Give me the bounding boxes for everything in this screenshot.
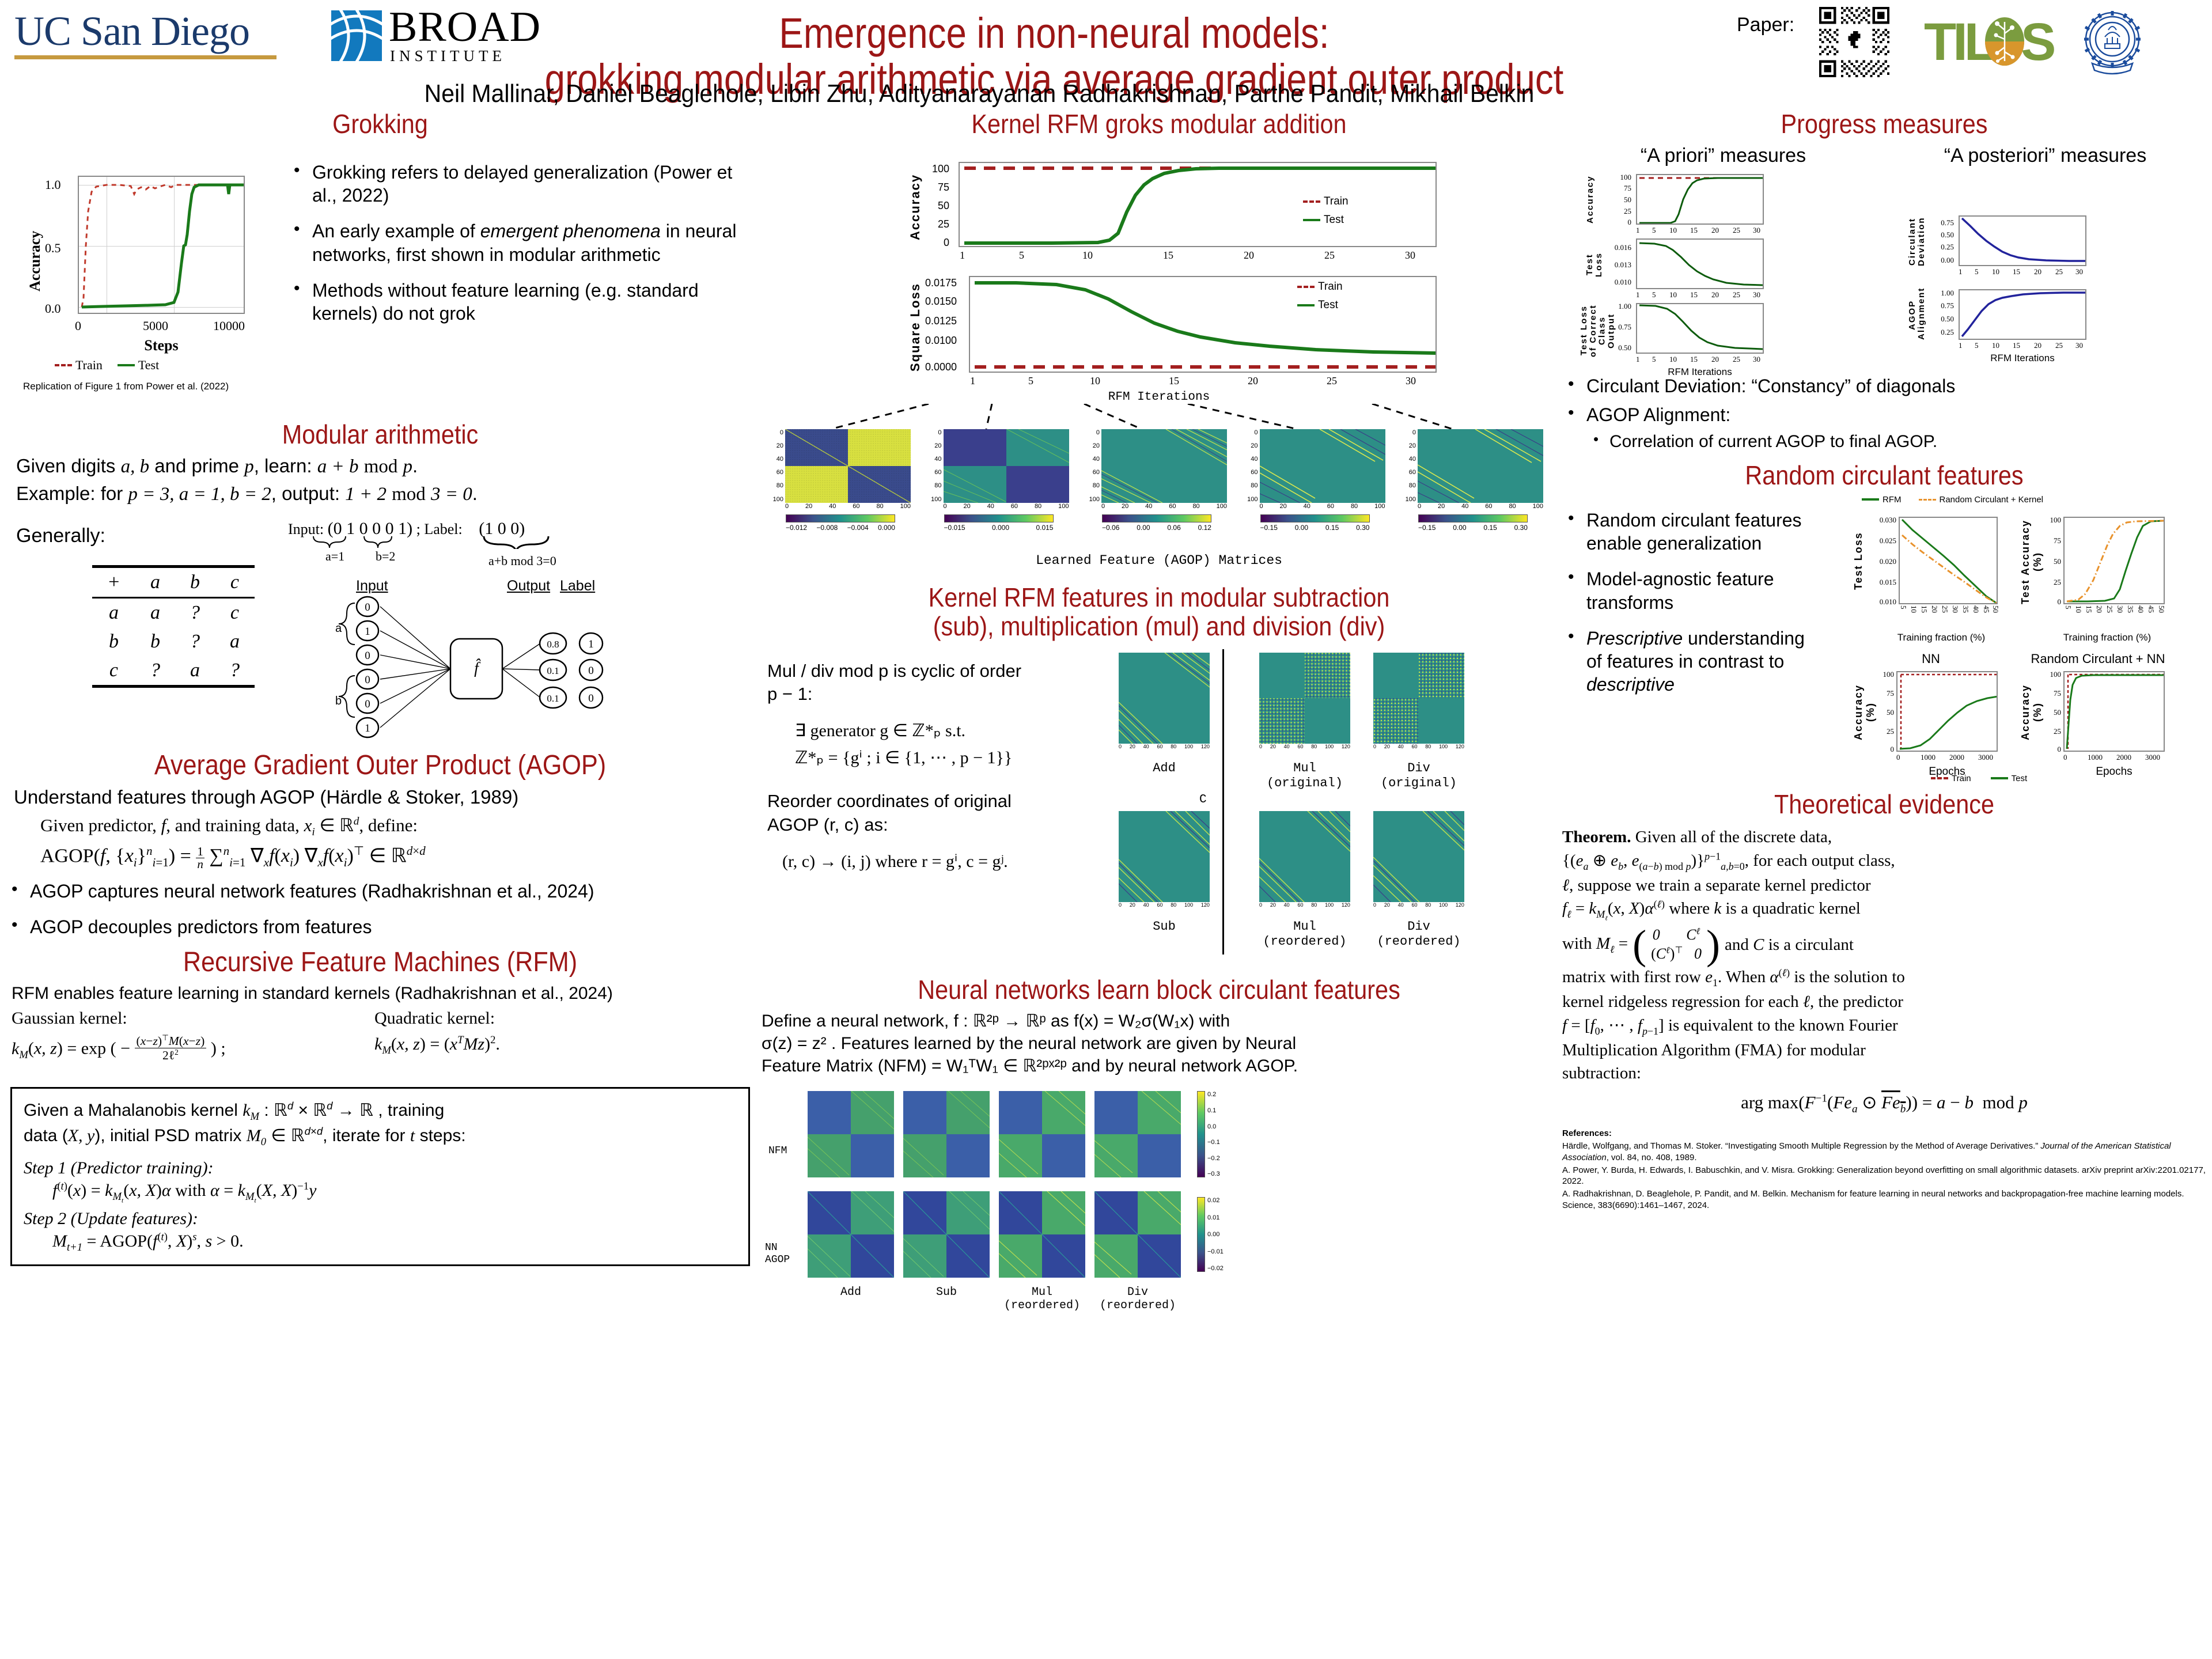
list-item: Circulant Deviation: “Constancy” of diag… bbox=[1562, 374, 2206, 397]
svg-text:0: 0 bbox=[588, 665, 594, 677]
progress-measures-plots: Accuracy 100 75 50 25 0 15 1015 bbox=[1562, 171, 2206, 366]
colorbar-labels: −0.012 −0.008 −0.004 0.000 bbox=[786, 524, 895, 532]
diagram-col-input: Input bbox=[356, 578, 388, 594]
test-line-swatch bbox=[1991, 777, 2008, 779]
author-list: Neil Mallinar, Daniel Beaglehole, Libin … bbox=[149, 81, 1810, 107]
colorbar bbox=[944, 514, 1054, 522]
learned-feature-matrices-caption: Learned Feature (AGOP) Matrices bbox=[762, 553, 1556, 568]
rc-test-loss-x-label: Training fraction (%) bbox=[1884, 632, 1999, 643]
modular-addition-table: +abc aa?c bb?a c?a? bbox=[92, 565, 255, 688]
agop-matrices-row: 020406080100 bbox=[762, 429, 1556, 536]
generator-math-2: ℤ*ₚ = {gⁱ ; i ∈ {1, ⋯ , p − 1}} bbox=[795, 748, 1113, 768]
section-rfm: Recursive Feature Machines (RFM) RFM ena… bbox=[6, 948, 755, 1266]
list-item: Model-agnostic feature transforms bbox=[1562, 567, 1810, 614]
feature-matrix-panel: 020406080100120 Div(original) bbox=[1373, 653, 1464, 791]
feature-heatmap-div-original bbox=[1373, 653, 1464, 744]
svg-text:0.1: 0.1 bbox=[547, 665, 559, 676]
agop-alignment-plot-area bbox=[1959, 289, 2086, 340]
row-label-nn-agop: NNAGOP bbox=[765, 1242, 790, 1266]
onehot-brace-label: a+b mod 3=0 bbox=[488, 554, 556, 569]
grokking-x-axis-label: Steps bbox=[78, 337, 245, 354]
feature-heatmap-sub bbox=[1119, 811, 1210, 902]
grokking-bullet-list: Grokking refers to delayed generalizatio… bbox=[288, 161, 749, 338]
modular-line-2: Example: for p = 3, a = 1, b = 2, output… bbox=[16, 482, 755, 506]
fma-formula: arg max(F−1(Fea ⊙ Feb)) = a − b mod p bbox=[1562, 1090, 2206, 1118]
random-circulant-bullet-list: Random circulant features enable general… bbox=[1562, 509, 1810, 709]
modular-line-1: Given digits a, b and prime p, learn: a … bbox=[16, 454, 755, 479]
progress-accuracy-plot-area bbox=[1636, 174, 1764, 225]
nn-agop-heatmap bbox=[1094, 1191, 1181, 1278]
rfm-loss-ytick-0: 0.0000 bbox=[925, 361, 957, 373]
rfm-line-swatch bbox=[1862, 498, 1879, 501]
feature-heatmap-add bbox=[1119, 653, 1210, 744]
svg-text:0: 0 bbox=[365, 674, 370, 686]
grokking-y-axis-label: Accuracy bbox=[26, 218, 44, 304]
theoretical-evidence-title: Theoretical evidence bbox=[1594, 790, 2174, 819]
svg-text:b: b bbox=[335, 695, 342, 707]
list-item: AGOP Alignment: Correlation of current A… bbox=[1562, 403, 2206, 453]
block-circulant-title: Neural networks learn block circulant fe… bbox=[801, 975, 1517, 1005]
list-item: Methods without feature learning (e.g. s… bbox=[288, 279, 749, 325]
a-priori-subhead: “A priori” measures bbox=[1562, 145, 1884, 167]
broad-mark-icon bbox=[331, 10, 382, 61]
theorem-text: Theorem. Given all of the discrete data,… bbox=[1562, 825, 2206, 1118]
svg-text:0: 0 bbox=[588, 692, 594, 704]
panel-label-sub: Sub bbox=[1119, 919, 1210, 934]
agop-matrix-panel: 020406080100 bbox=[1245, 429, 1389, 536]
feature-matrix-panel: 020406080100120 Mul(reordered) bbox=[1259, 811, 1350, 950]
progress-bullet-list: Circulant Deviation: “Constancy” of diag… bbox=[1562, 374, 2206, 453]
ucsd-logo: UC San Diego bbox=[14, 10, 285, 77]
reorder-text: Reorder coordinates of original AGOP (r,… bbox=[767, 790, 1113, 836]
tilos-logo: TIL S bbox=[1924, 12, 2056, 75]
agop-bullet-list: AGOP captures neural network features (R… bbox=[6, 880, 755, 939]
feature-matrix-panel: 020406080100120 Mul(original) bbox=[1259, 653, 1350, 791]
rfm-intro: RFM enables feature learning in standard… bbox=[12, 983, 755, 1004]
grokking-ytick-0: 0.0 bbox=[45, 301, 61, 316]
left-column: Grokking Accuracy 0.0 0.5 1.0 bbox=[6, 109, 755, 1266]
references-block: References: Härdle, Wolfgang, and Thomas… bbox=[1562, 1128, 2206, 1211]
colorbar-nfm-labels: 0.2 0.1 0.0 −0.1 −0.2 −0.3 bbox=[1207, 1091, 1220, 1177]
rfm-accuracy-chart: Accuracy 100 75 50 25 0 15 1015 2025 30 bbox=[906, 150, 1447, 266]
agop-title: Average Gradient Outer Product (AGOP) bbox=[43, 751, 717, 781]
features-title-line2: (sub), multiplication (mul) and division… bbox=[801, 612, 1517, 641]
feature-matrix-panel: 020406080100120 Div(reordered) bbox=[1373, 811, 1464, 950]
ucsd-logo-text: UC San Diego bbox=[14, 10, 285, 52]
random-circulant-line-swatch bbox=[1919, 499, 1936, 501]
grokking-xtick-1: 5000 bbox=[143, 319, 168, 334]
svg-text:0: 0 bbox=[365, 650, 370, 662]
rfm-acc-ytick-75: 75 bbox=[938, 181, 949, 194]
progress-test-loss-plot-area bbox=[1636, 238, 1764, 289]
random-circulant-title: Random circulant features bbox=[1594, 461, 2174, 490]
nn-accuracy-chart: Accuracy (%) 100 75 50 25 0 01000 bbox=[1850, 671, 2003, 781]
onehot-brace-b: b=2 bbox=[376, 549, 395, 564]
block-circulant-paragraph: Define a neural network, f : ℝ²ᵖ → ℝᵖ as… bbox=[762, 1010, 1556, 1077]
references-heading: References: bbox=[1562, 1128, 2206, 1139]
grokking-xtick-2: 10000 bbox=[213, 319, 245, 334]
colorbar bbox=[1418, 514, 1528, 522]
reference-item: A. Radhakrishnan, D. Beaglehole, P. Pand… bbox=[1562, 1188, 2206, 1211]
grokking-legend-test: Test bbox=[118, 358, 159, 373]
feature-heatmap-mul-reordered bbox=[1259, 811, 1350, 902]
a-posteriori-subhead: “A posteriori” measures bbox=[1884, 145, 2206, 167]
agop-heatmap bbox=[785, 429, 911, 503]
colorbar bbox=[1260, 514, 1370, 522]
rc-nn-accuracy-plot-area bbox=[2063, 671, 2165, 752]
rfm-acc-legend-train: Train bbox=[1303, 195, 1349, 208]
poster-header: UC San Diego BROAD INSTITUTE Emergen bbox=[0, 0, 2212, 109]
list-item: Random circulant features enable general… bbox=[1562, 509, 1810, 555]
colorbar-labels: −0.15 0.00 0.15 0.30 bbox=[1418, 524, 1528, 532]
svg-text:0.1: 0.1 bbox=[547, 693, 559, 704]
section-agop: Average Gradient Outer Product (AGOP) Un… bbox=[6, 751, 755, 938]
onehot-brace-a: a=1 bbox=[325, 549, 344, 564]
reference-item: Härdle, Wolfgang, and Thomas M. Stoker. … bbox=[1562, 1141, 2206, 1164]
grokking-figure-caption: Replication of Figure 1 from Power et al… bbox=[23, 381, 229, 392]
agop-matrix-panel: 020406080100 bbox=[771, 429, 915, 536]
reference-item: A. Power, Y. Burda, H. Edwards, I. Babus… bbox=[1562, 1165, 2206, 1188]
nfm-heatmap bbox=[808, 1091, 894, 1177]
rfm-acc-ytick-0: 0 bbox=[944, 237, 949, 249]
colorbar-nfm bbox=[1197, 1091, 1205, 1177]
rfm-box-line-2: data (X, y), initial PSD matrix M0 ∈ ℝd×… bbox=[24, 1124, 737, 1149]
panel-label-div-reordered: Div(reordered) bbox=[1373, 919, 1464, 950]
random-circulant-legend: RFM Random Circulant + Kernel bbox=[1862, 495, 2043, 505]
agop-heatmap bbox=[1101, 429, 1227, 503]
grokking-plot-area bbox=[78, 176, 245, 314]
rc-test-loss-plot-area bbox=[1899, 517, 1998, 604]
nfm-nnagop-grid: NFM NNAGOP bbox=[762, 1088, 1556, 1312]
right-column: Progress measures “A priori” measures “A… bbox=[1562, 109, 2206, 1211]
rc-test-loss-y-label: Test Loss bbox=[1853, 529, 1865, 593]
progress-right-x-label: RFM Iterations bbox=[1959, 353, 2086, 364]
nn-chart-title: NN bbox=[1862, 652, 2000, 666]
row-label-nfm: NFM bbox=[768, 1145, 787, 1157]
progress-measures-title: Progress measures bbox=[1594, 109, 2174, 139]
rfm-accuracy-plot-area bbox=[959, 162, 1437, 247]
nn-agop-heatmap bbox=[903, 1191, 990, 1278]
table-row: aa?c bbox=[92, 598, 255, 628]
svg-text:a: a bbox=[335, 622, 342, 635]
rfm-acc-ytick-100: 100 bbox=[932, 163, 949, 175]
agop-formula-intro: Given predictor, f, and training data, x… bbox=[40, 815, 755, 839]
panel-label-add: Add bbox=[1119, 761, 1210, 775]
nn-legend-train: Train bbox=[1931, 774, 1971, 783]
test-line-swatch bbox=[118, 364, 135, 366]
svg-text:1: 1 bbox=[588, 638, 594, 650]
rc-test-loss-chart: Test Loss 0.030 0.025 0.020 0.015 0.010 … bbox=[1850, 517, 2003, 638]
agop-matrix-panel: 020406080100 bbox=[1087, 429, 1231, 536]
agop-matrix-connectors bbox=[762, 404, 1556, 429]
progress-correct-class-chart: Test Loss of Correct Class Output 1.00 0… bbox=[1585, 303, 1775, 368]
section-grokking: Grokking Accuracy 0.0 0.5 1.0 bbox=[6, 109, 755, 414]
paper-qr-label: Paper: bbox=[1737, 14, 1794, 36]
progress-correct-class-plot-area bbox=[1636, 303, 1764, 354]
rc-test-accuracy-chart: Test Accuracy (%) 100 75 50 25 0 5 10 bbox=[2017, 517, 2170, 638]
modular-generally-label: Generally: bbox=[16, 525, 105, 547]
list-item: Grokking refers to delayed generalizatio… bbox=[288, 161, 749, 207]
table-row: c?a? bbox=[92, 656, 255, 687]
poster-root: UC San Diego BROAD INSTITUTE Emergen bbox=[0, 0, 2212, 1659]
svg-text:0: 0 bbox=[365, 698, 370, 710]
rfm-step2-title: Step 2 (Update features): bbox=[24, 1209, 737, 1229]
rc-test-accuracy-plot-area bbox=[2063, 517, 2165, 604]
title-line-1: Emergence in non-neural models: bbox=[524, 10, 1584, 56]
features-title-line1: Kernel RFM features in modular subtracti… bbox=[801, 583, 1517, 612]
col-label-mul-reordered: Mul (reordered) bbox=[999, 1286, 1085, 1312]
grokking-ytick-1: 0.5 bbox=[45, 241, 61, 256]
agop-heatmap bbox=[1418, 429, 1543, 503]
train-line-swatch bbox=[1931, 777, 1948, 779]
panel-label-mul-original: Mul(original) bbox=[1259, 761, 1350, 791]
rfm-loss-ytick-2: 0.0125 bbox=[925, 315, 957, 327]
rc-test-accuracy-x-label: Training fraction (%) bbox=[2050, 632, 2165, 643]
rfm-title: Recursive Feature Machines (RFM) bbox=[43, 948, 717, 978]
list-item: An early example of emergent phenomena i… bbox=[288, 219, 749, 266]
colorbar-nn-agop-labels: 0.02 0.01 0.00 −0.01 −0.02 bbox=[1207, 1197, 1224, 1272]
rfm-iterations-axis-label: RFM Iterations bbox=[762, 391, 1556, 404]
svg-text:S: S bbox=[2021, 13, 2054, 71]
ucsd-logo-rule bbox=[14, 55, 276, 59]
legend-random-circulant-kernel: Random Circulant + Kernel bbox=[1919, 495, 2044, 505]
list-item: Prescriptive understanding of features i… bbox=[1562, 627, 1810, 696]
agop-heatmap bbox=[1260, 429, 1385, 503]
reorder-math: (r, c) → (i, j) where r = gⁱ, c = gʲ. bbox=[782, 851, 1113, 872]
colorbar bbox=[1102, 514, 1211, 522]
feature-heatmap-div-reordered bbox=[1373, 811, 1464, 902]
modular-arithmetic-title: Modular arithmetic bbox=[43, 420, 717, 449]
grokking-ytick-2: 1.0 bbox=[45, 177, 61, 192]
rfm-accuracy-y-label: Accuracy bbox=[908, 166, 923, 247]
rfm-loss-plot-area bbox=[969, 276, 1437, 373]
rfm-loss-ytick-3: 0.0150 bbox=[925, 296, 957, 308]
rc-nn-x-label: Epochs bbox=[2063, 766, 2165, 778]
gaussian-kernel-formula: kM(x, z) = exp ( − (x−z)⊤M(x−z) 2ℓ2 ) ; bbox=[12, 1034, 226, 1062]
colorbar-labels: −0.015 0.000 0.015 bbox=[944, 524, 1054, 532]
diagram-col-label: Label bbox=[560, 578, 595, 594]
gaussian-kernel-label: Gaussian kernel: bbox=[12, 1009, 127, 1028]
circulant-deviation-plot-area bbox=[1959, 215, 2086, 266]
colorbar-labels: −0.06 0.00 0.06 0.12 bbox=[1102, 524, 1211, 532]
generator-math-1: ∃ generator g ∈ ℤ*ₚ s.t. bbox=[795, 721, 1113, 741]
section-modular-arithmetic: Modular arithmetic Given digits a, b and… bbox=[6, 420, 755, 759]
nn-legend-test: Test bbox=[1991, 774, 2028, 783]
grokking-accuracy-chart: Accuracy 0.0 0.5 1.0 bbox=[23, 151, 271, 382]
rfm-loss-ytick-1: 0.0100 bbox=[925, 335, 957, 347]
rc-nn-accuracy-chart: Accuracy (%) 100 75 50 25 0 01000 bbox=[2017, 671, 2170, 781]
onehot-encoding-diagram: Input: (0 1 0 0 0 1) ; Label: (1 0 0) a=… bbox=[276, 517, 749, 759]
rfm-loss-chart: Square Loss 0.0175 0.0150 0.0125 0.0100 … bbox=[906, 270, 1447, 388]
nfm-heatmap bbox=[999, 1091, 1085, 1177]
rfm-loss-legend-train: Train bbox=[1297, 281, 1343, 293]
progress-accuracy-y-label: Accuracy bbox=[1585, 177, 1595, 224]
circulant-deviation-chart: Circulant Deviation 0.75 0.50 0.25 0.00 … bbox=[1908, 215, 2098, 274]
agop-formula: AGOP(f, {xi}ni=1) = 1n ∑ni=1 ∇xf(xi) ∇xf… bbox=[40, 843, 755, 870]
kernel-rfm-groks-title: Kernel RFM groks modular addition bbox=[801, 109, 1517, 139]
feature-heatmap-mul-original bbox=[1259, 653, 1350, 744]
rfm-step2-formula: Mt+1 = AGOP(f(t), X)s, s > 0. bbox=[52, 1231, 737, 1254]
rfm-step1-formula: f(t)(x) = kMt(x, X)α with α = kMt(X, X)−… bbox=[52, 1180, 737, 1205]
train-line-swatch bbox=[1303, 200, 1320, 203]
svg-text:0.8: 0.8 bbox=[547, 639, 559, 650]
col-label-div-reordered: Div (reordered) bbox=[1094, 1286, 1181, 1312]
agop-matrix-panel: 020406080100 bbox=[1403, 429, 1547, 536]
nfm-heatmap bbox=[1094, 1091, 1181, 1177]
agop-matrix-panel: 020406080100 bbox=[929, 429, 1073, 536]
qr-code-icon[interactable] bbox=[1819, 7, 1889, 77]
col-label-add: Add bbox=[808, 1286, 894, 1312]
nfm-heatmap bbox=[903, 1091, 990, 1177]
train-line-swatch bbox=[1297, 286, 1315, 288]
rfm-acc-ytick-25: 25 bbox=[938, 218, 949, 230]
rfm-acc-ytick-50: 50 bbox=[938, 200, 949, 212]
legend-rfm: RFM bbox=[1862, 495, 1902, 505]
quadratic-kernel-formula: kM(x, z) = (xTMz)2. bbox=[374, 1034, 500, 1057]
progress-test-loss-chart: Test Loss 0.016 0.013 0.010 15 1015 2025… bbox=[1585, 238, 1775, 297]
kernel-rfm-features-title: Kernel RFM features in modular subtracti… bbox=[801, 583, 1517, 641]
mul-div-cyclic-text: Mul / div mod p is cyclic of order p − 1… bbox=[767, 660, 1113, 706]
rfm-loss-ytick-4: 0.0175 bbox=[925, 277, 957, 289]
table-row: +abc bbox=[92, 567, 255, 598]
iit-bombay-seal-icon bbox=[2080, 8, 2146, 76]
agop-heatmap bbox=[944, 429, 1069, 503]
nn-agop-heatmap bbox=[808, 1191, 894, 1278]
nn-agop-heatmap bbox=[999, 1191, 1085, 1278]
feature-matrix-panel: 020406080100120 Sub bbox=[1119, 811, 1210, 950]
agop-alignment-chart: AGOP Alignment 1.00 0.75 0.50 0.25 15 10… bbox=[1908, 289, 2098, 358]
grokking-title: Grokking bbox=[43, 109, 717, 139]
grokking-xtick-0: 0 bbox=[75, 319, 81, 334]
rc-nn-chart-title: Random Circulant + NN bbox=[2012, 652, 2184, 666]
quadratic-kernel-label: Quadratic kernel: bbox=[374, 1009, 495, 1028]
grokking-legend-train: Train bbox=[55, 358, 103, 373]
rfm-loss-legend-test: Test bbox=[1297, 299, 1343, 312]
rfm-algorithm-box: Given a Mahalanobis kernel kM : ℝd × ℝd … bbox=[10, 1087, 750, 1266]
svg-text:1: 1 bbox=[365, 626, 370, 638]
diagram-col-output: Output bbox=[507, 578, 550, 594]
nn-charts-legend: Train Test bbox=[1931, 774, 2027, 783]
rfm-acc-legend-test: Test bbox=[1303, 214, 1349, 226]
rfm-loss-y-label: Square Loss bbox=[908, 279, 923, 374]
middle-column: Kernel RFM groks modular addition Accura… bbox=[762, 109, 1556, 1312]
colorbar bbox=[786, 514, 895, 522]
svg-text:0: 0 bbox=[365, 601, 370, 613]
list-item: Correlation of current AGOP to final AGO… bbox=[1586, 431, 2206, 453]
svg-text:1: 1 bbox=[365, 722, 370, 734]
train-line-swatch bbox=[55, 364, 72, 366]
list-item: AGOP decouples predictors from features bbox=[6, 915, 755, 938]
svg-text:TIL: TIL bbox=[1924, 13, 1995, 71]
colorbar-nn-agop bbox=[1197, 1197, 1205, 1272]
table-row: bb?a bbox=[92, 627, 255, 656]
theorem-matrix: ( 0 Cℓ (Cℓ)⊤ 0 ) bbox=[1633, 926, 1720, 963]
nn-accuracy-plot-area bbox=[1896, 671, 1998, 752]
test-line-swatch bbox=[1297, 304, 1315, 306]
list-item: AGOP captures neural network features (R… bbox=[6, 880, 755, 903]
test-line-swatch bbox=[1303, 219, 1320, 221]
agop-intro: Understand features through AGOP (Härdle… bbox=[14, 786, 755, 809]
rfm-box-line-1: Given a Mahalanobis kernel kM : ℝd × ℝd … bbox=[24, 1099, 737, 1124]
colorbar-labels: −0.15 0.00 0.15 0.30 bbox=[1260, 524, 1370, 532]
col-label-sub: Sub bbox=[903, 1286, 990, 1312]
feature-matrix-panel: 020406080100120 Add bbox=[1119, 653, 1210, 791]
panel-label-mul-reordered: Mul(reordered) bbox=[1259, 919, 1350, 950]
progress-accuracy-chart: Accuracy 100 75 50 25 0 15 1015 bbox=[1585, 174, 1775, 233]
panel-label-div-original: Div(original) bbox=[1373, 761, 1464, 791]
rfm-step1-title: Step 1 (Predictor training): bbox=[24, 1158, 737, 1178]
